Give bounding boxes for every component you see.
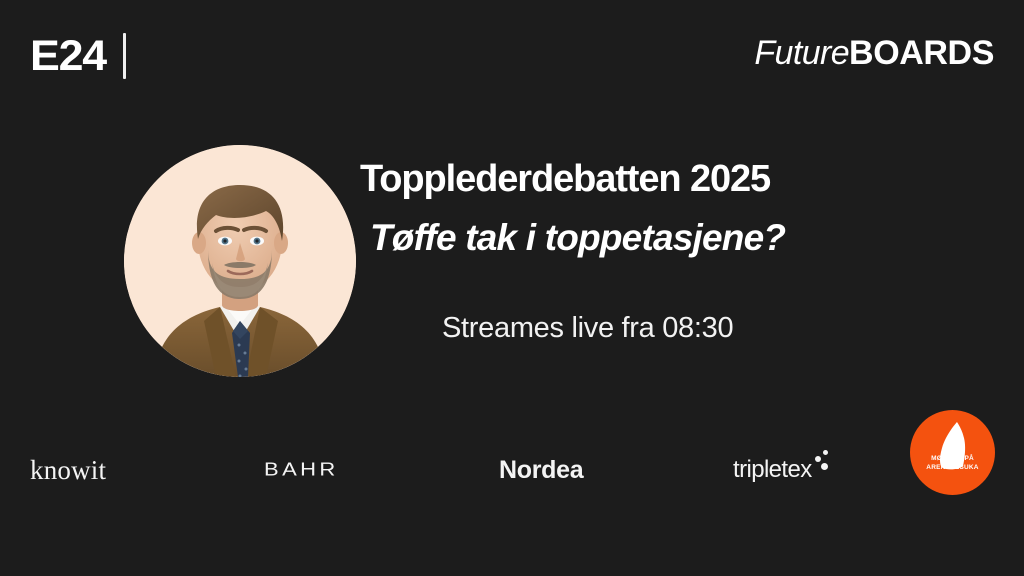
futureboards-logo-future: Future — [754, 36, 849, 70]
speaker-portrait-illustration — [124, 145, 356, 377]
badge-caption-line2: ARENDALSUKA — [910, 463, 995, 472]
stream-info: Streames live fra 08:30 — [360, 258, 960, 343]
badge-caption-line1: MØT OSS PÅ — [910, 454, 995, 463]
futureboards-logo: Future BOARDS — [754, 36, 994, 70]
presentation-slide: E24 Future BOARDS — [0, 0, 1024, 576]
event-subtitle: Tøffe tak i toppetasjene? — [360, 200, 960, 258]
e24-logo: E24 — [30, 28, 126, 84]
slide-header: E24 Future BOARDS — [0, 0, 1024, 112]
vertical-divider-icon — [123, 33, 126, 79]
sponsor-label-bahr: BAHR — [264, 459, 339, 480]
sponsor-label-tripletex: tripletex — [733, 456, 812, 484]
futureboards-logo-boards: BOARDS — [849, 36, 994, 70]
sponsor-logo-strip: knowit BAHR Nordea tripletex — [0, 410, 1024, 520]
three-dots-arc-icon — [813, 450, 835, 476]
sponsor-logo-bahr[interactable]: BAHR — [264, 455, 339, 485]
e24-wordmark: E24 — [30, 35, 106, 78]
sponsor-logo-tripletex[interactable]: tripletex — [733, 452, 835, 488]
speaker-portrait — [124, 145, 356, 377]
sail-icon — [910, 410, 995, 495]
sponsor-label-knowit: knowit — [30, 455, 106, 486]
sponsor-label-nordea: Nordea — [499, 456, 583, 485]
sponsor-logo-knowit[interactable]: knowit — [30, 452, 106, 488]
event-title: Topplederdebatten 2025 — [360, 160, 960, 200]
arendalsuka-badge[interactable]: MØT OSS PÅ ARENDALSUKA — [910, 410, 995, 495]
sponsor-logo-nordea[interactable]: Nordea — [499, 452, 583, 488]
event-text-block: Topplederdebatten 2025 Tøffe tak i toppe… — [360, 160, 960, 343]
badge-caption: MØT OSS PÅ ARENDALSUKA — [910, 454, 995, 473]
